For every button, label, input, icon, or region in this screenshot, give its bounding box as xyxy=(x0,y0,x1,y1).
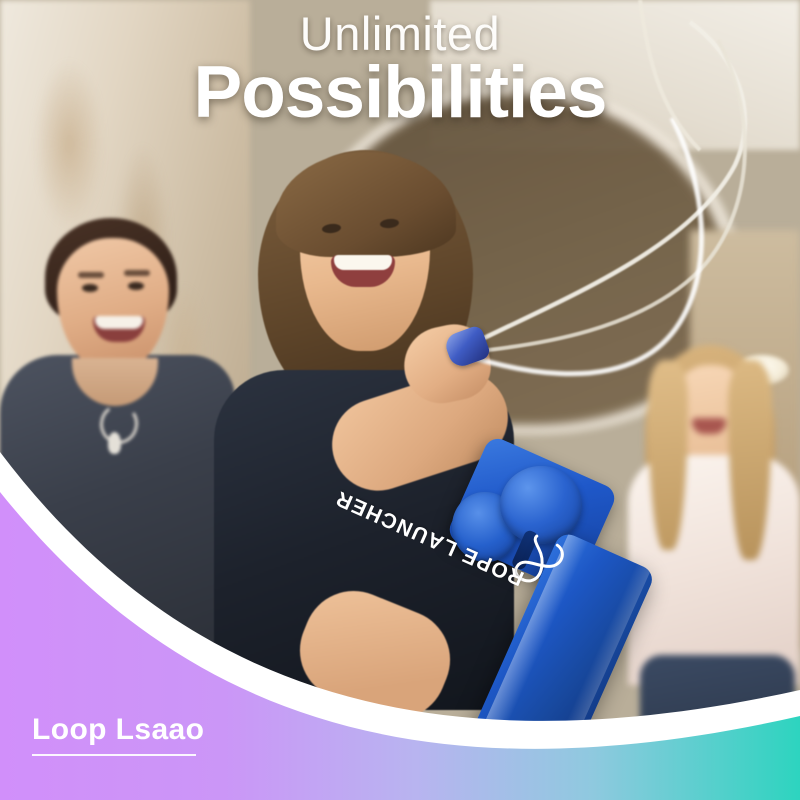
headline-block: Unlimited Possibilities xyxy=(0,10,800,129)
brand-name: Loop Lsaao xyxy=(32,715,204,745)
headline-line-1: Unlimited xyxy=(0,10,800,58)
headline-line-2: Possibilities xyxy=(0,56,800,129)
product-banner: ROPE LAUNCHER Loop Lsaao Unlimited Possi… xyxy=(0,0,800,800)
brand-underline xyxy=(32,754,196,756)
brand-block: Loop Lsaao xyxy=(32,715,204,756)
